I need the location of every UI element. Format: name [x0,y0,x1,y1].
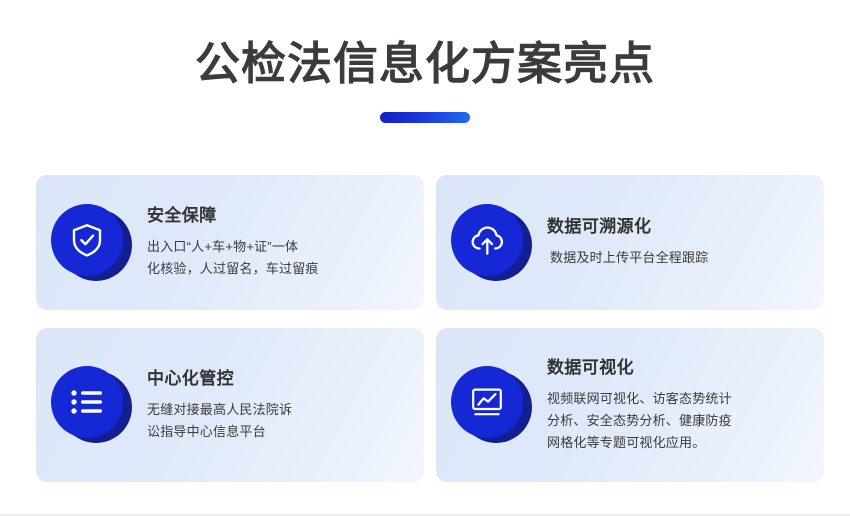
card-title: 数据可视化 [547,357,810,379]
line-chart-monitor-icon [469,386,505,418]
icon-circle [451,204,523,276]
icon-circle [51,204,123,276]
card-description: 无缝对接最高人民法院诉 讼指导中心信息平台 [147,399,410,443]
card-text: 数据可视化 视频联网可视化、访客态势统计 分析、安全态势分析、健康防疫 网格化等… [547,357,824,454]
card-title: 数据可溯源化 [547,216,810,238]
card-text: 中心化管控 无缝对接最高人民法院诉 讼指导中心信息平台 [147,368,424,443]
card-title: 中心化管控 [147,368,410,390]
card-text: 安全保障 出入口“人+车+物+证”一体 化核验，人过留名，车过留痕 [147,205,424,280]
icon-circle [51,366,123,438]
icon-badge [51,204,129,282]
feature-highlights-page: 公检法信息化方案亮点 安全保障 出入口“人+车+物+证”一体 化核验， [0,0,850,516]
icon-badge [51,366,129,444]
shield-check-icon [70,222,104,258]
feature-card[interactable]: 数据可视化 视频联网可视化、访客态势统计 分析、安全态势分析、健康防疫 网格化等… [436,328,824,482]
feature-card-grid: 安全保障 出入口“人+车+物+证”一体 化核验，人过留名，车过留痕 [36,175,824,482]
icon-badge [451,204,529,282]
page-header: 公检法信息化方案亮点 [0,0,850,123]
card-title: 安全保障 [147,205,410,227]
card-description: 视频联网可视化、访客态势统计 分析、安全态势分析、健康防疫 网格化等专题可视化应… [547,388,810,454]
feature-card[interactable]: 安全保障 出入口“人+车+物+证”一体 化核验，人过留名，车过留痕 [36,175,424,310]
card-description: 数据及时上传平台全程跟踪 [547,247,810,269]
card-text: 数据可溯源化 数据及时上传平台全程跟踪 [547,216,824,269]
title-underline-bar [380,112,470,123]
feature-card[interactable]: 中心化管控 无缝对接最高人民法院诉 讼指导中心信息平台 [36,328,424,482]
bulleted-list-icon [69,388,105,416]
icon-circle [451,366,523,438]
feature-card[interactable]: 数据可溯源化 数据及时上传平台全程跟踪 [436,175,824,310]
icon-badge [451,366,529,444]
cloud-upload-icon [469,224,505,256]
card-description: 出入口“人+车+物+证”一体 化核验，人过留名，车过留痕 [147,236,410,280]
page-title: 公检法信息化方案亮点 [0,36,850,92]
